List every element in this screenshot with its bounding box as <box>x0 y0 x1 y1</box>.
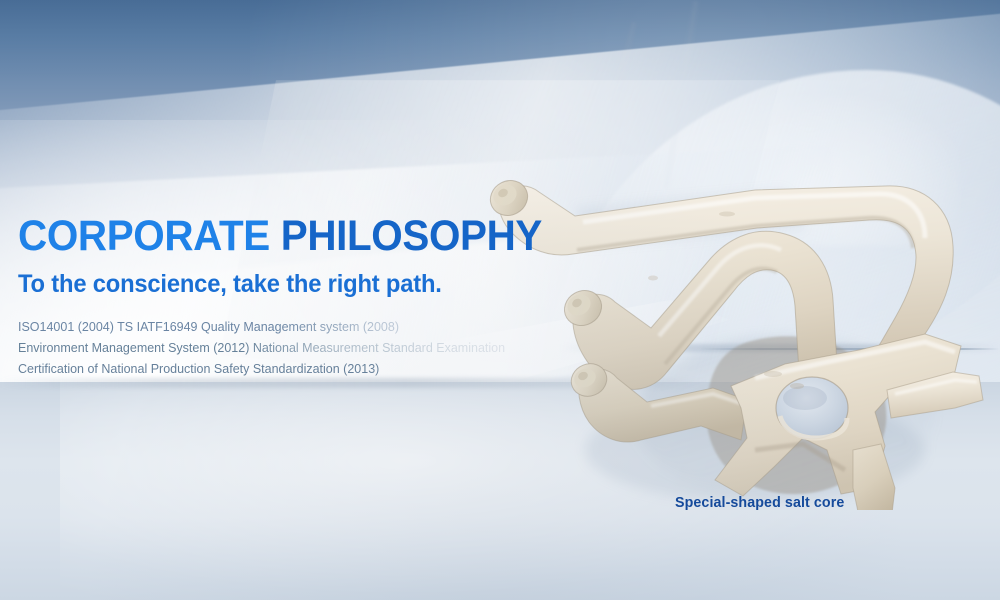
salt-core-center-hole <box>776 377 848 439</box>
headline-text-block: CORPORATE PHILOSOPHY To the conscience, … <box>18 215 578 380</box>
headline-word-philosophy: PHILOSOPHY <box>281 212 542 260</box>
certification-line-2: Environment Management System (2012) Nat… <box>18 338 578 359</box>
subtitle: To the conscience, take the right path. <box>18 272 550 297</box>
product-caption: Special-shaped salt core <box>675 494 844 511</box>
page-title: CORPORATE PHILOSOPHY <box>18 215 544 258</box>
headline-word-corporate: CORPORATE <box>18 212 270 260</box>
background-crease-b <box>594 21 638 168</box>
corporate-philosophy-banner: CORPORATE PHILOSOPHY To the conscience, … <box>0 0 1000 600</box>
certification-line-1: ISO14001 (2004) TS IATF16949 Quality Man… <box>18 317 578 338</box>
certification-list: ISO14001 (2004) TS IATF16949 Quality Man… <box>18 317 578 380</box>
certification-line-3: Certification of National Production Saf… <box>18 359 578 380</box>
